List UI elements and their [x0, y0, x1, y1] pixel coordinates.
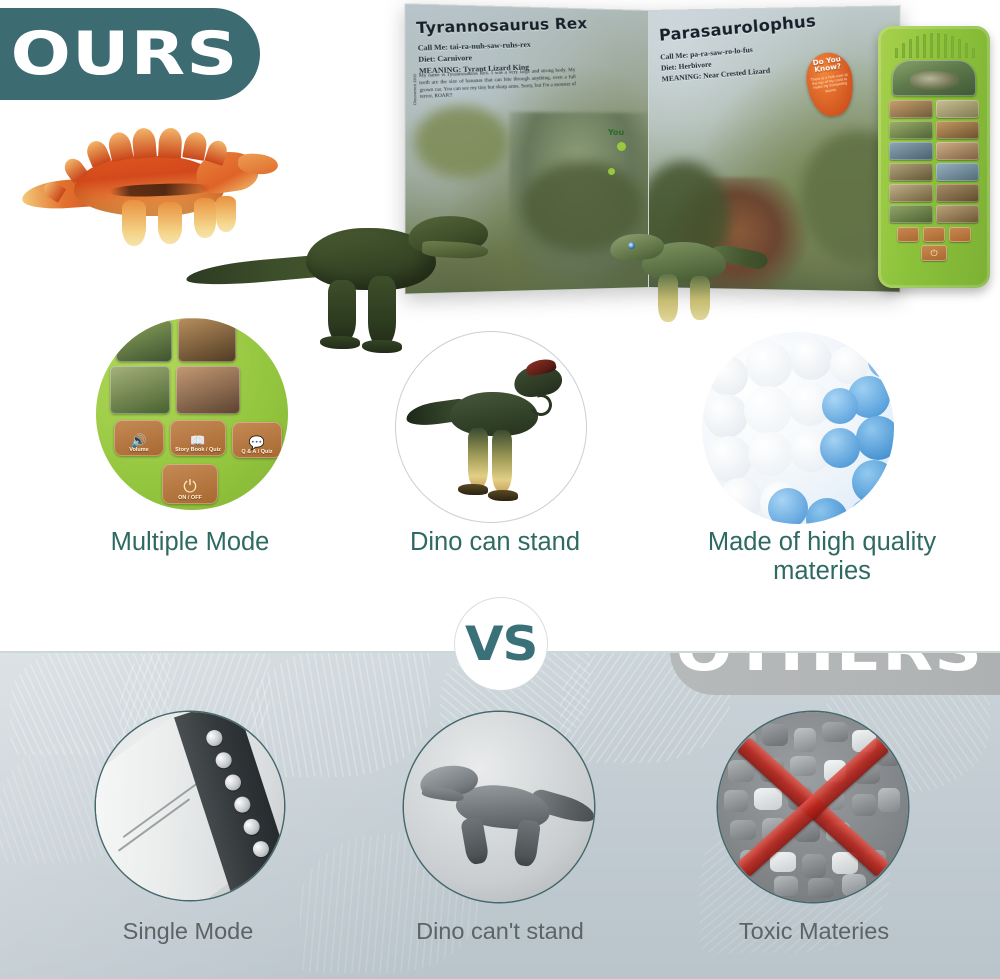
- sound-button-dino-3[interactable]: [889, 121, 933, 139]
- standing-dino-leg: [492, 430, 512, 492]
- standing-dinosaur-figure: [426, 350, 566, 500]
- page-credit-left: Discovered 1902: [412, 74, 417, 105]
- fern-pattern: [250, 653, 430, 777]
- volume-button[interactable]: [897, 227, 919, 242]
- ours-banner: OURS: [0, 8, 260, 100]
- story-book-button[interactable]: 📖 Story Book / Quiz: [170, 420, 226, 456]
- story-book-button[interactable]: [923, 227, 945, 242]
- speaker-icon: 🔊: [131, 434, 147, 447]
- sound-button-dino-5[interactable]: [889, 142, 933, 160]
- power-icon: ⏻: [183, 478, 196, 495]
- module-picture-button-1[interactable]: [116, 320, 172, 362]
- trex-leg: [328, 280, 356, 342]
- trex-foot: [320, 336, 360, 349]
- sound-button-main-trex[interactable]: [892, 60, 976, 96]
- sound-button-dino-9[interactable]: [889, 184, 933, 202]
- you-tab-label: You: [608, 128, 624, 137]
- vs-badge: VS: [455, 598, 547, 690]
- sound-button-dino-4[interactable]: [936, 121, 980, 139]
- vs-label: VS: [465, 621, 537, 668]
- trex-leg: [368, 276, 396, 346]
- standing-dino-leg: [468, 428, 488, 488]
- volume-button[interactable]: 🔊 Volume: [114, 420, 164, 456]
- others-banner: OTHERS: [670, 653, 1000, 695]
- carnotaurus-leg: [690, 276, 710, 320]
- stegosaurus-leg: [158, 202, 182, 244]
- caption-multiple-mode: Multiple Mode: [40, 528, 340, 557]
- ours-label: OURS: [11, 24, 239, 84]
- carnotaurus-leg: [658, 274, 678, 322]
- standing-dino-foot: [458, 484, 488, 495]
- book-button[interactable]: [214, 750, 234, 770]
- module-control-row: [889, 227, 979, 242]
- trex-foot: [362, 340, 402, 353]
- green-dot-icon: [608, 168, 615, 175]
- ours-section: Tyrannosaurus Rex Call Me: tai-ra-nuh-sa…: [0, 0, 1000, 652]
- scenery-blob: [414, 105, 509, 178]
- feature-circle-single-mode: [96, 712, 284, 900]
- book-button[interactable]: [270, 883, 284, 900]
- feature-circle-dino-can-stand: [396, 332, 586, 522]
- sound-button-dino-12[interactable]: [936, 205, 980, 223]
- sound-button-grid: [889, 100, 979, 223]
- sound-button-dino-7[interactable]: [889, 163, 933, 181]
- qa-quiz-button[interactable]: 💬 Q & A / Quiz: [232, 422, 282, 458]
- stegosaurus-leg: [122, 200, 146, 246]
- sound-button-dino-6[interactable]: [936, 142, 980, 160]
- book-button[interactable]: [232, 795, 252, 815]
- book-button[interactable]: [223, 772, 243, 792]
- do-you-know-badge: Do You Know? There is a hole over at the…: [803, 50, 857, 120]
- carnotaurus-eye: [628, 242, 635, 249]
- caption-high-quality-line2: materies: [672, 557, 972, 586]
- module-picture-button-4[interactable]: [176, 366, 240, 414]
- sound-button-dino-10[interactable]: [936, 184, 980, 202]
- caption-high-quality-line1: Made of high quality: [672, 528, 972, 557]
- power-button[interactable]: ⏻: [921, 245, 947, 261]
- sound-button-dino-11[interactable]: [889, 205, 933, 223]
- stegosaurus-plate: [106, 130, 133, 162]
- standing-dino-body: [450, 392, 538, 436]
- module-picture-button-3[interactable]: [110, 366, 170, 414]
- page-title-left: Tyrannosaurus Rex: [416, 14, 588, 37]
- caption-dino-can-stand: Dino can stand: [350, 528, 640, 557]
- standing-dino-foot: [488, 490, 518, 501]
- speaker-grille-icon: [891, 32, 977, 58]
- page-body-left: My name is Tyrannosaurus Rex. I was a ve…: [419, 68, 577, 102]
- power-on-off-button[interactable]: ⏻ ON / OFF: [162, 464, 218, 504]
- feature-circle-dino-cannot-stand: [404, 712, 594, 902]
- caption-single-mode: Single Mode: [40, 918, 336, 945]
- caption-dino-cannot-stand: Dino can't stand: [352, 918, 648, 945]
- stegosaurus-plate: [131, 127, 157, 159]
- sound-module-panel[interactable]: ⏻: [878, 26, 990, 288]
- caption-high-quality: Made of high quality materies: [672, 528, 972, 586]
- others-label: OTHERS: [675, 653, 982, 680]
- page-title-right: Parasaurolophus: [658, 11, 816, 45]
- feature-circle-foam-beads: [702, 332, 894, 524]
- book-button[interactable]: [251, 839, 271, 859]
- book-button[interactable]: [260, 861, 280, 881]
- book-button[interactable]: [204, 728, 224, 748]
- feature-circle-toxic-materials: [718, 712, 908, 902]
- module-picture-button-2[interactable]: [178, 318, 236, 362]
- green-dot-icon: [617, 142, 626, 151]
- stegosaurus-plate: [158, 127, 183, 158]
- sound-button-dino-8[interactable]: [936, 163, 980, 181]
- caption-toxic-materies: Toxic Materies: [664, 918, 964, 945]
- carnotaurus-toy: [614, 212, 754, 342]
- page-facts-right: Call Me: pa-ra-saw-ro-lo-fus Diet: Herbi…: [660, 44, 771, 86]
- qa-quiz-button[interactable]: [949, 227, 971, 242]
- module-face: 🔊 Volume 📖 Story Book / Quiz 💬 Q & A / Q…: [96, 318, 288, 510]
- book-icon: 📖: [190, 434, 206, 447]
- sound-button-dino-1[interactable]: [889, 100, 933, 118]
- product-comparison-infographic: Tyrannosaurus Rex Call Me: tai-ra-nuh-sa…: [0, 0, 1000, 979]
- feature-circle-multiple-mode: 🔊 Volume 📖 Story Book / Quiz 💬 Q & A / Q…: [96, 318, 288, 510]
- book-button[interactable]: [242, 817, 262, 837]
- sound-button-dino-2[interactable]: [936, 100, 980, 118]
- question-answer-icon: 💬: [249, 436, 265, 449]
